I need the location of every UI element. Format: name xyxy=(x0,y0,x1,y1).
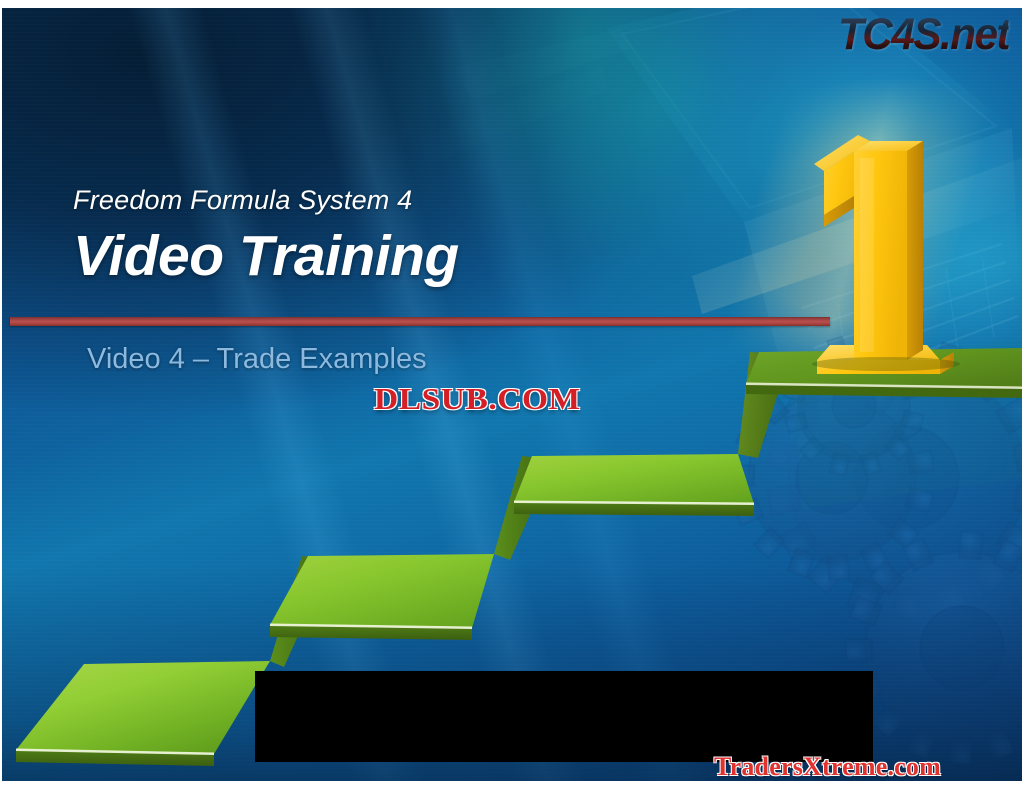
redaction-bar xyxy=(255,671,873,762)
slide-eyebrow-text: Freedom Formula System 4 xyxy=(73,185,412,216)
tc4s-logo: TC4S.net xyxy=(838,10,1009,60)
staircase-step-2 xyxy=(270,456,554,640)
page-title: Video Training xyxy=(73,226,459,286)
slide-canvas: Freedom Formula System 4 Video Training … xyxy=(0,0,1024,791)
dlsub-watermark: DLSUB.COM xyxy=(374,381,581,417)
slide-content-area: Freedom Formula System 4 Video Training … xyxy=(2,8,1022,781)
tradersxtreme-watermark: TradersXtreme.com xyxy=(714,752,941,781)
slide-subtitle: Video 4 – Trade Examples xyxy=(87,343,427,376)
numeral-one-badge xyxy=(812,135,960,374)
title-divider-rule xyxy=(10,317,830,326)
